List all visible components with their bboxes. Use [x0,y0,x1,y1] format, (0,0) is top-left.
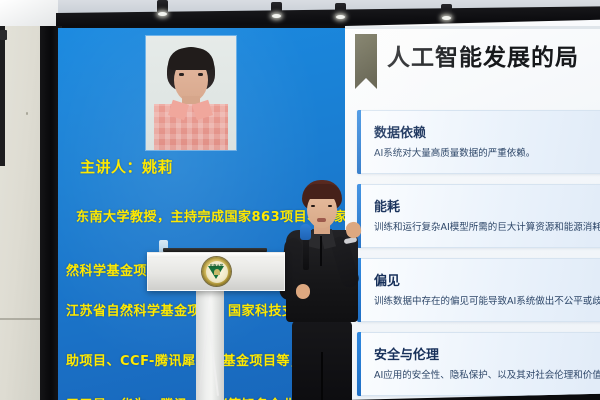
portrait-fringe [168,48,214,70]
spotlight-icon [157,0,168,16]
microphone-icon [300,224,311,240]
microphone-handle [303,238,309,270]
podium-panel: 东南大学 [147,252,285,291]
slide-card: 能耗 训练和运行复杂AI模型所需的巨大计算资源和能源消耗 [357,184,600,248]
portrait-eye [198,73,203,76]
slide-top-edge [345,26,600,29]
card-heading: 偏见 [374,270,400,289]
slide-card-list: 数据依赖 AI系统对大量高质量数据的严重依赖。 能耗 训练和运行复杂AI模型所需… [357,110,600,400]
spotlight-icon [271,2,282,18]
speaker-eye [328,205,332,207]
speaker-person [274,180,370,400]
screen-text-line: 于三星、华为、腾讯、中兴等知名企业。 [66,394,309,400]
card-heading: 数据依赖 [374,122,426,141]
card-body: AI应用的安全性、隐私保护、以及其对社会伦理和价值 [374,367,600,381]
spotlight-icon [335,3,346,19]
card-body: AI系统对大量高质量数据的严重依赖。 [374,145,535,159]
speaker-eye [311,205,315,207]
card-heading: 能耗 [374,196,400,215]
card-body: 训练和运行复杂AI模型所需的巨大计算资源和能源消耗 [374,219,600,233]
card-body: 训练数据中存在的偏见可能导致AI系统做出不公平或歧 [374,293,600,307]
slide-title: 人工智能发展的局 [387,38,579,72]
screen-text-line: 主讲人：姚莉 [80,156,173,177]
presentation-scene: 主讲人：姚莉 东南大学教授，主持完成国家863项目、国家自 然科学基金项目 江苏… [0,0,600,400]
card-heading: 安全与伦理 [374,344,439,363]
seal-gate-mark [214,269,220,275]
projection-slide: 人工智能发展的局 数据依赖 AI系统对大量高质量数据的严重依赖。 能耗 训练和运… [345,20,600,400]
southeast-university-seal-icon: 东南大学 [202,257,231,286]
wall-speck [26,112,28,115]
ribbon-bookmark-icon [355,34,377,78]
speaker-mouth [317,218,326,222]
wall-fixture-icon [0,30,7,40]
slide-card: 数据依赖 AI系统对大量高质量数据的严重依赖。 [357,110,600,174]
slide-card: 安全与伦理 AI应用的安全性、隐私保护、以及其对社会伦理和价值 [357,332,600,396]
speaker-placket [320,236,322,266]
speaker-fringe [303,184,341,199]
portrait-eye [179,73,184,76]
speaker-hand-left [296,284,310,299]
wall-edge-shadow [0,26,5,166]
slide-card: 偏见 训练数据中存在的偏见可能导致AI系统做出不公平或歧 [357,258,600,322]
portrait-shirt [154,104,228,150]
speaker-portrait-photo [146,36,236,150]
seal-inner-label: 东南大学 [208,263,226,268]
spotlight-icon [441,4,452,20]
speaker-leg-gap [321,352,323,400]
card-accent-bar [357,110,361,174]
